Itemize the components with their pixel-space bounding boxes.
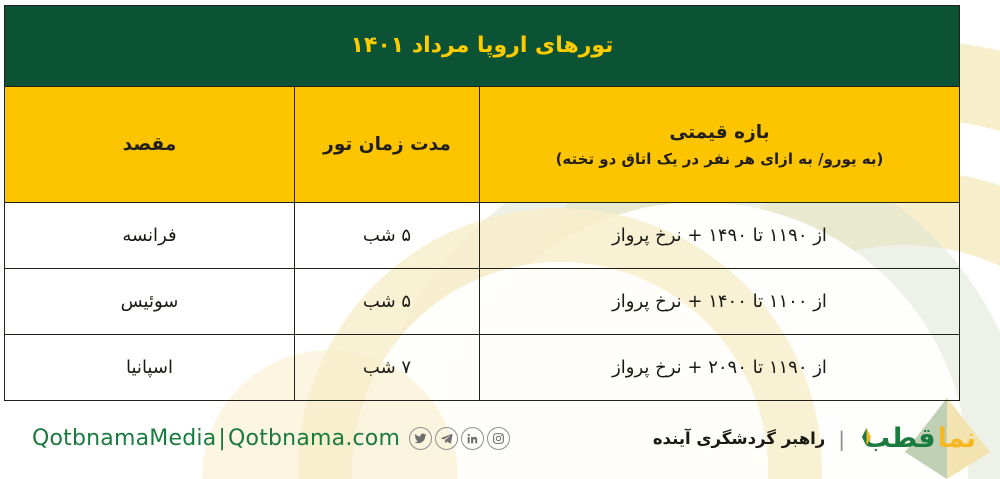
website-url: Qotbnama.com — [228, 426, 400, 451]
brand-logo[interactable]: نما قطب — [858, 425, 976, 452]
compass-needle-icon — [858, 425, 875, 449]
footer: نما قطب | راهبر گردشگری آینده — [0, 398, 1000, 479]
table-row: از ۱۱۹۰ تا ۲۰۹۰ + نرخ پرواز ۷ شب اسپانیا — [4, 335, 959, 401]
telegram-icon[interactable] — [435, 427, 458, 450]
column-header-destination-label: مقصد — [5, 130, 294, 160]
page-title-text: تورهای اروپا مرداد ۱۴۰۱ — [5, 33, 959, 59]
table-title-row: تورهای اروپا مرداد ۱۴۰۱ — [4, 6, 959, 87]
table-header-row: بازه قیمتی (به یورو/ به ازای هر نفر در ی… — [4, 87, 959, 203]
tour-table: تورهای اروپا مرداد ۱۴۰۱ بازه قیمتی (به ی… — [4, 5, 960, 401]
page-root: تورهای اروپا مرداد ۱۴۰۱ بازه قیمتی (به ی… — [0, 0, 1000, 479]
cell-destination: فرانسه — [4, 203, 294, 269]
column-header-duration-label: مدت زمان تور — [295, 130, 479, 160]
twitter-icon[interactable] — [409, 427, 432, 450]
linkedin-icon[interactable] — [461, 427, 484, 450]
brand-separator: | — [835, 427, 848, 451]
cell-price: از ۱۱۹۰ تا ۱۴۹۰ + نرخ پرواز — [480, 203, 960, 269]
cell-price: از ۱۱۰۰ تا ۱۴۰۰ + نرخ پرواز — [480, 269, 960, 335]
social-icon-row — [409, 427, 510, 450]
cell-duration: ۵ شب — [295, 269, 480, 335]
cell-duration: ۵ شب — [295, 203, 480, 269]
tour-table-container: تورهای اروپا مرداد ۱۴۰۱ بازه قیمتی (به ی… — [5, 5, 960, 390]
footer-brand-group: نما قطب | راهبر گردشگری آینده — [653, 425, 976, 452]
brand-tagline: راهبر گردشگری آینده — [653, 429, 825, 448]
handle-separator: | — [216, 426, 228, 451]
instagram-icon[interactable] — [487, 427, 510, 450]
column-header-destination: مقصد — [4, 87, 294, 203]
social-handles[interactable]: QotbnamaMedia|Qotbnama.com — [32, 426, 400, 451]
column-header-price-sublabel: (به یورو/ به ازای هر نفر در یک اتاق دو ت… — [480, 147, 959, 171]
column-header-duration: مدت زمان تور — [295, 87, 480, 203]
cell-destination: سوئیس — [4, 269, 294, 335]
cell-destination: اسپانیا — [4, 335, 294, 401]
cell-price: از ۱۱۹۰ تا ۲۰۹۰ + نرخ پرواز — [480, 335, 960, 401]
cell-duration: ۷ شب — [295, 335, 480, 401]
table-row: از ۱۱۹۰ تا ۱۴۹۰ + نرخ پرواز ۵ شب فرانسه — [4, 203, 959, 269]
column-header-price-label: بازه قیمتی — [480, 118, 959, 148]
page-title: تورهای اروپا مرداد ۱۴۰۱ — [4, 6, 959, 87]
media-handle: QotbnamaMedia — [32, 426, 216, 451]
table-row: از ۱۱۰۰ تا ۱۴۰۰ + نرخ پرواز ۵ شب سوئیس — [4, 269, 959, 335]
footer-social-group: QotbnamaMedia|Qotbnama.com — [24, 426, 510, 451]
column-header-price: بازه قیمتی (به یورو/ به ازای هر نفر در ی… — [480, 87, 960, 203]
brand-logo-nama: نما — [938, 425, 976, 452]
